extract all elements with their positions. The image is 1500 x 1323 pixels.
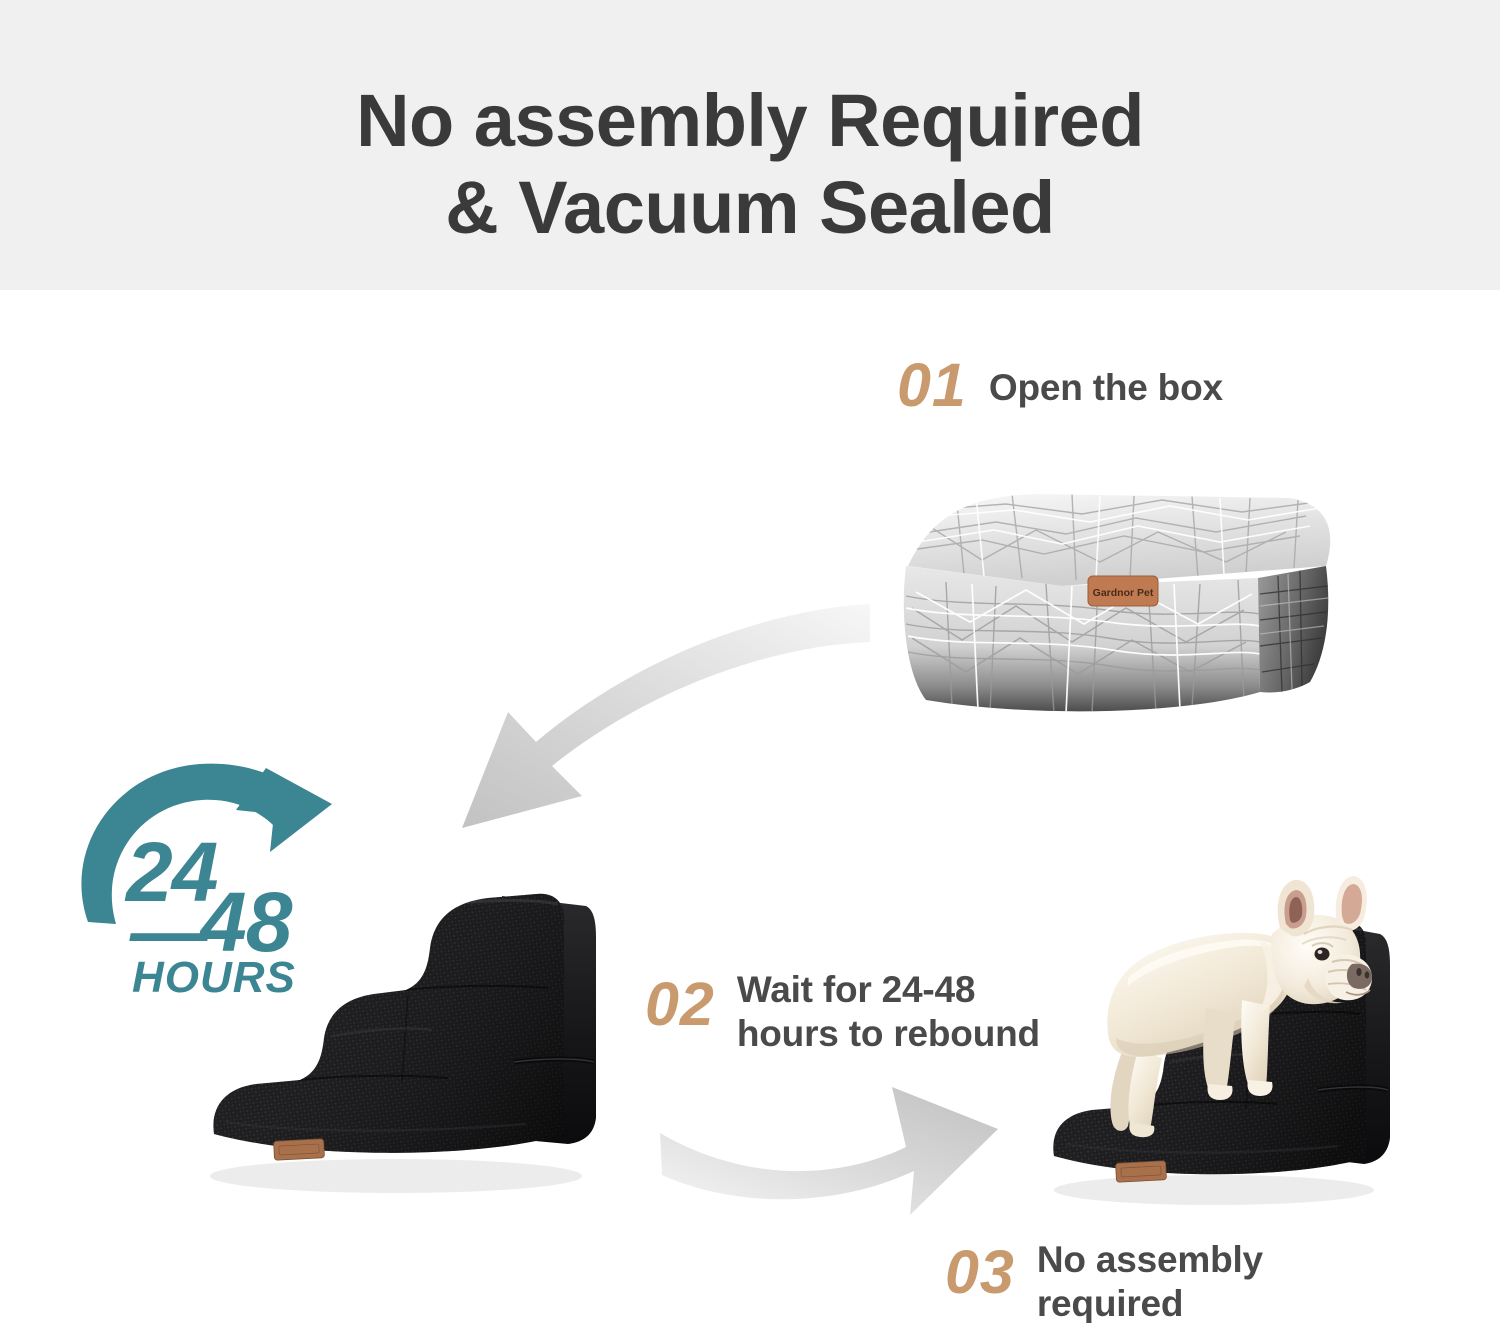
package-brand-text: Gardnor Pet	[1093, 587, 1154, 599]
stairs-right-brand-tag	[1116, 1161, 1167, 1183]
step-01-label: Open the box	[989, 355, 1223, 410]
infographic-page: No assembly Required & Vacuum Sealed 01 …	[0, 0, 1500, 1323]
step-02-caption: 02 Wait for 24-48 hours to rebound	[645, 968, 1040, 1055]
pet-stairs-left	[196, 866, 604, 1206]
package-brand-label: Gardnor Pet	[1088, 576, 1158, 606]
stairs-left-brand-tag	[274, 1139, 325, 1161]
pet-stairs-right-with-dog	[1046, 838, 1394, 1216]
step-01-caption: 01 Open the box	[897, 355, 1223, 416]
curved-arrow-right-icon	[660, 1055, 1000, 1255]
step-02-number: 02	[645, 968, 715, 1035]
vacuum-sealed-package: Gardnor Pet	[886, 474, 1356, 726]
header-band: No assembly Required & Vacuum Sealed	[0, 0, 1500, 290]
step-02-label: Wait for 24-48 hours to rebound	[737, 968, 1040, 1055]
step-03-label: No assembly required	[1037, 1238, 1263, 1323]
page-title: No assembly Required & Vacuum Sealed	[0, 78, 1500, 251]
step-01-number: 01	[897, 355, 967, 416]
curved-arrow-down-left-icon	[400, 600, 870, 835]
